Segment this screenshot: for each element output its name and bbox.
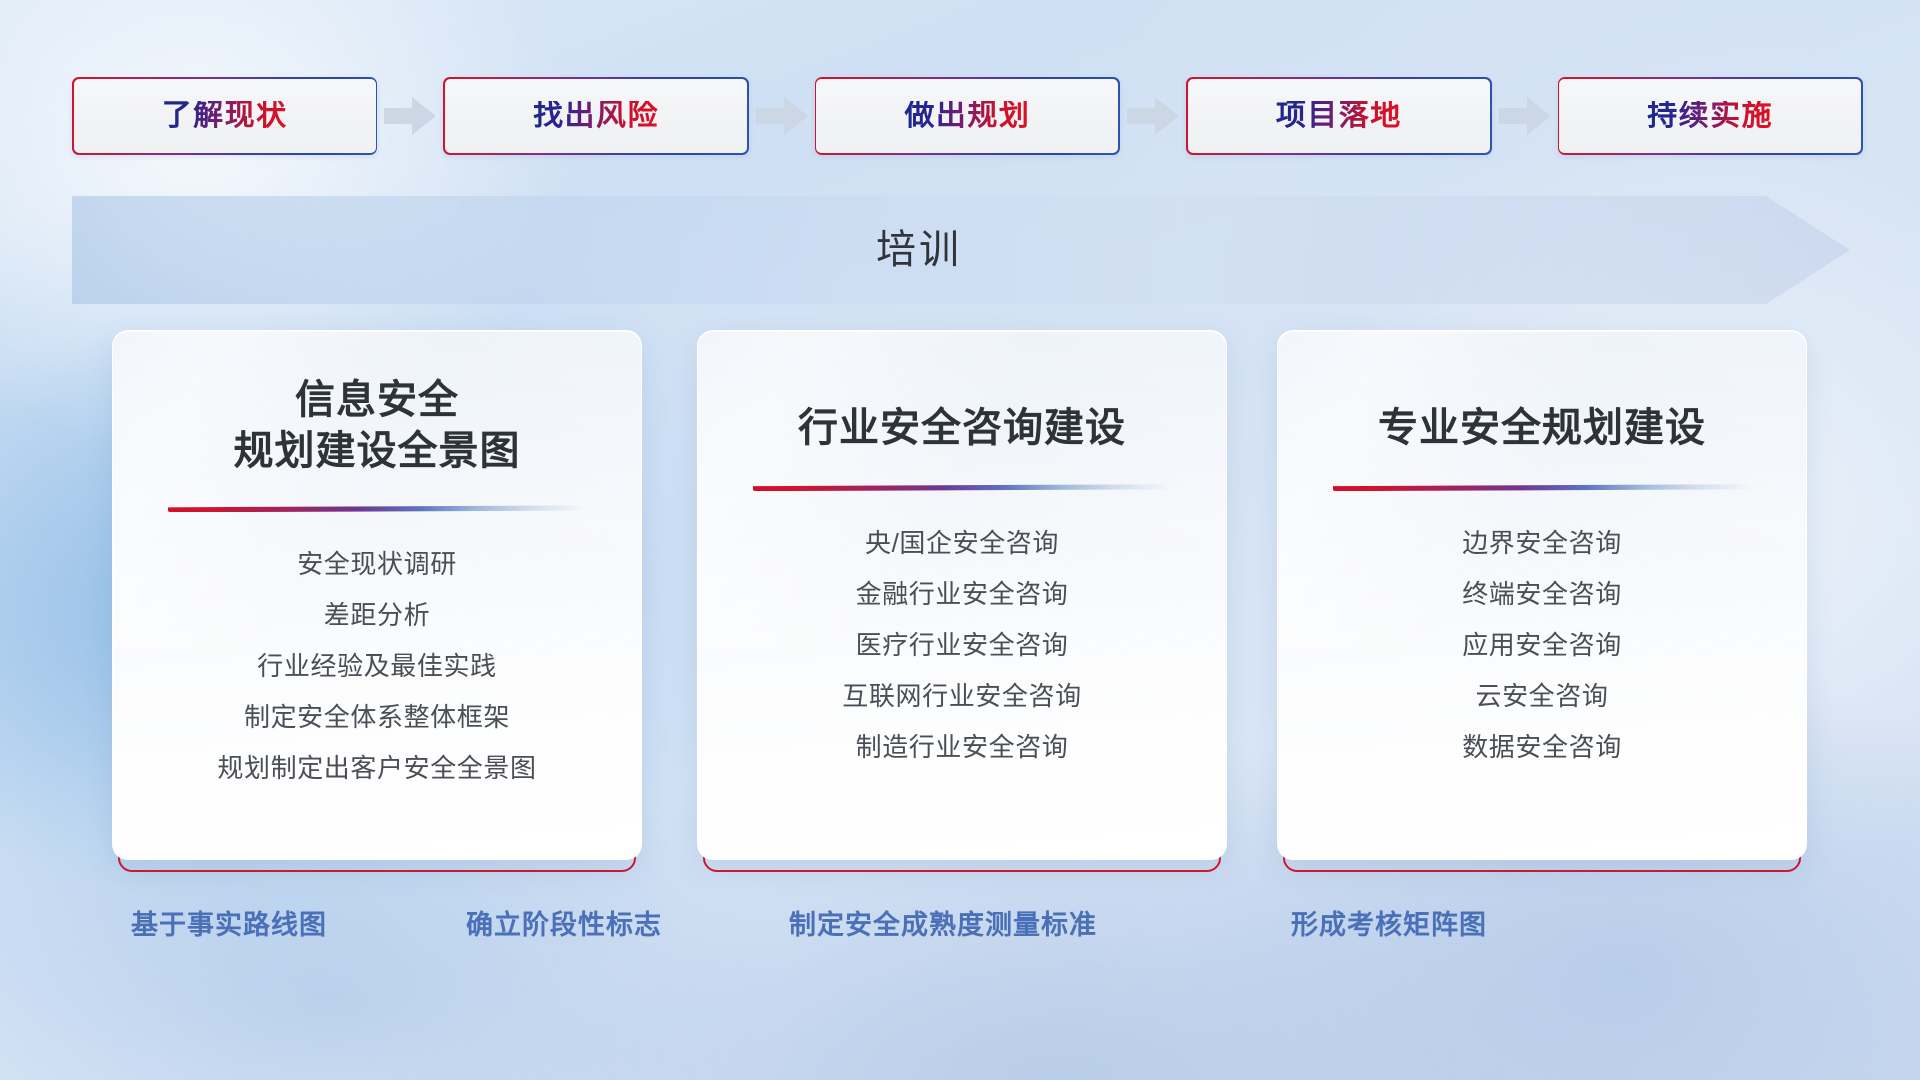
card-item-list: 边界安全咨询 终端安全咨询 应用安全咨询 云安全咨询 数据安全咨询: [1307, 517, 1777, 772]
list-item: 终端安全咨询: [1307, 568, 1777, 619]
process-step-2-label: 找出风险: [533, 101, 659, 131]
list-item: 数据安全咨询: [1307, 721, 1777, 772]
card-industry-security-consulting[interactable]: 行业安全咨询建设 央/国企安全咨询 金融行业安全咨询 医疗行业安全咨询 互联网行…: [697, 330, 1227, 890]
card-item-list: 央/国企安全咨询 金融行业安全咨询 医疗行业安全咨询 互联网行业安全咨询 制造行…: [727, 517, 1197, 772]
outcome-captions: 基于事实路线图 确立阶段性标志 制定安全成熟度测量标准 形成考核矩阵图: [0, 912, 1920, 962]
list-item: 金融行业安全咨询: [727, 568, 1197, 619]
card-title: 信息安全 规划建设全景图: [157, 375, 597, 477]
card-title: 专业安全规划建设: [1322, 403, 1762, 454]
process-step-1-body: 了解现状: [74, 79, 376, 153]
list-item: 央/国企安全咨询: [727, 517, 1197, 568]
process-flow: 了解现状 找出风险 做出规划: [72, 78, 1850, 154]
process-step-5-body: 持续实施: [1559, 79, 1861, 153]
list-item: 互联网行业安全咨询: [727, 670, 1197, 721]
list-item: 云安全咨询: [1307, 670, 1777, 721]
process-step-1[interactable]: 了解现状: [72, 77, 377, 154]
card-divider: [168, 505, 586, 512]
training-banner: 培训: [72, 196, 1850, 304]
arrow-right-icon-4: [1492, 93, 1558, 139]
list-item: 行业经验及最佳实践: [142, 640, 612, 691]
list-item: 规划制定出客户安全全景图: [142, 742, 612, 793]
list-item: 制造行业安全咨询: [727, 721, 1197, 772]
process-step-4-body: 项目落地: [1188, 79, 1490, 153]
arrow-right-icon-1: [377, 93, 443, 139]
process-step-3-label: 做出规划: [904, 101, 1030, 131]
training-banner-label: 培训: [72, 196, 1850, 304]
caption-maturity-measurement: 制定安全成熟度测量标准: [789, 912, 1097, 939]
process-step-3-body: 做出规划: [816, 79, 1118, 153]
list-item: 差距分析: [142, 589, 612, 640]
list-item: 应用安全咨询: [1307, 619, 1777, 670]
caption-assessment-matrix: 形成考核矩阵图: [1291, 912, 1487, 939]
card-information-security-blueprint[interactable]: 信息安全 规划建设全景图 安全现状调研 差距分析 行业经验及最佳实践 制定安全体…: [112, 330, 642, 890]
arrow-right-icon-2: [749, 93, 815, 139]
capability-cards: 信息安全 规划建设全景图 安全现状调研 差距分析 行业经验及最佳实践 制定安全体…: [0, 330, 1920, 890]
card-divider: [1333, 484, 1751, 491]
card-item-list: 安全现状调研 差距分析 行业经验及最佳实践 制定安全体系整体框架 规划制定出客户…: [142, 538, 612, 793]
process-step-5-label: 持续实施: [1647, 101, 1773, 131]
arrow-right-icon-3: [1120, 93, 1186, 139]
list-item: 安全现状调研: [142, 538, 612, 589]
card-divider: [753, 484, 1171, 491]
list-item: 边界安全咨询: [1307, 517, 1777, 568]
card-professional-security-planning[interactable]: 专业安全规划建设 边界安全咨询 终端安全咨询 应用安全咨询 云安全咨询 数据安全…: [1277, 330, 1807, 890]
list-item: 医疗行业安全咨询: [727, 619, 1197, 670]
slide-canvas: 了解现状 找出风险 做出规划: [0, 0, 1920, 1080]
card-body: 专业安全规划建设 边界安全咨询 终端安全咨询 应用安全咨询 云安全咨询 数据安全…: [1277, 330, 1807, 860]
caption-stage-milestones: 确立阶段性标志: [466, 912, 662, 939]
caption-fact-based-roadmap: 基于事实路线图: [131, 912, 327, 939]
process-step-4-label: 项目落地: [1276, 101, 1402, 131]
process-step-4[interactable]: 项目落地: [1186, 77, 1491, 154]
card-title: 行业安全咨询建设: [742, 403, 1182, 454]
process-step-2-body: 找出风险: [445, 79, 747, 153]
process-step-3[interactable]: 做出规划: [815, 77, 1120, 154]
process-step-1-label: 了解现状: [162, 101, 288, 131]
card-body: 信息安全 规划建设全景图 安全现状调研 差距分析 行业经验及最佳实践 制定安全体…: [112, 330, 642, 860]
process-step-5[interactable]: 持续实施: [1558, 77, 1863, 154]
process-step-2[interactable]: 找出风险: [443, 77, 748, 154]
card-body: 行业安全咨询建设 央/国企安全咨询 金融行业安全咨询 医疗行业安全咨询 互联网行…: [697, 330, 1227, 860]
list-item: 制定安全体系整体框架: [142, 691, 612, 742]
